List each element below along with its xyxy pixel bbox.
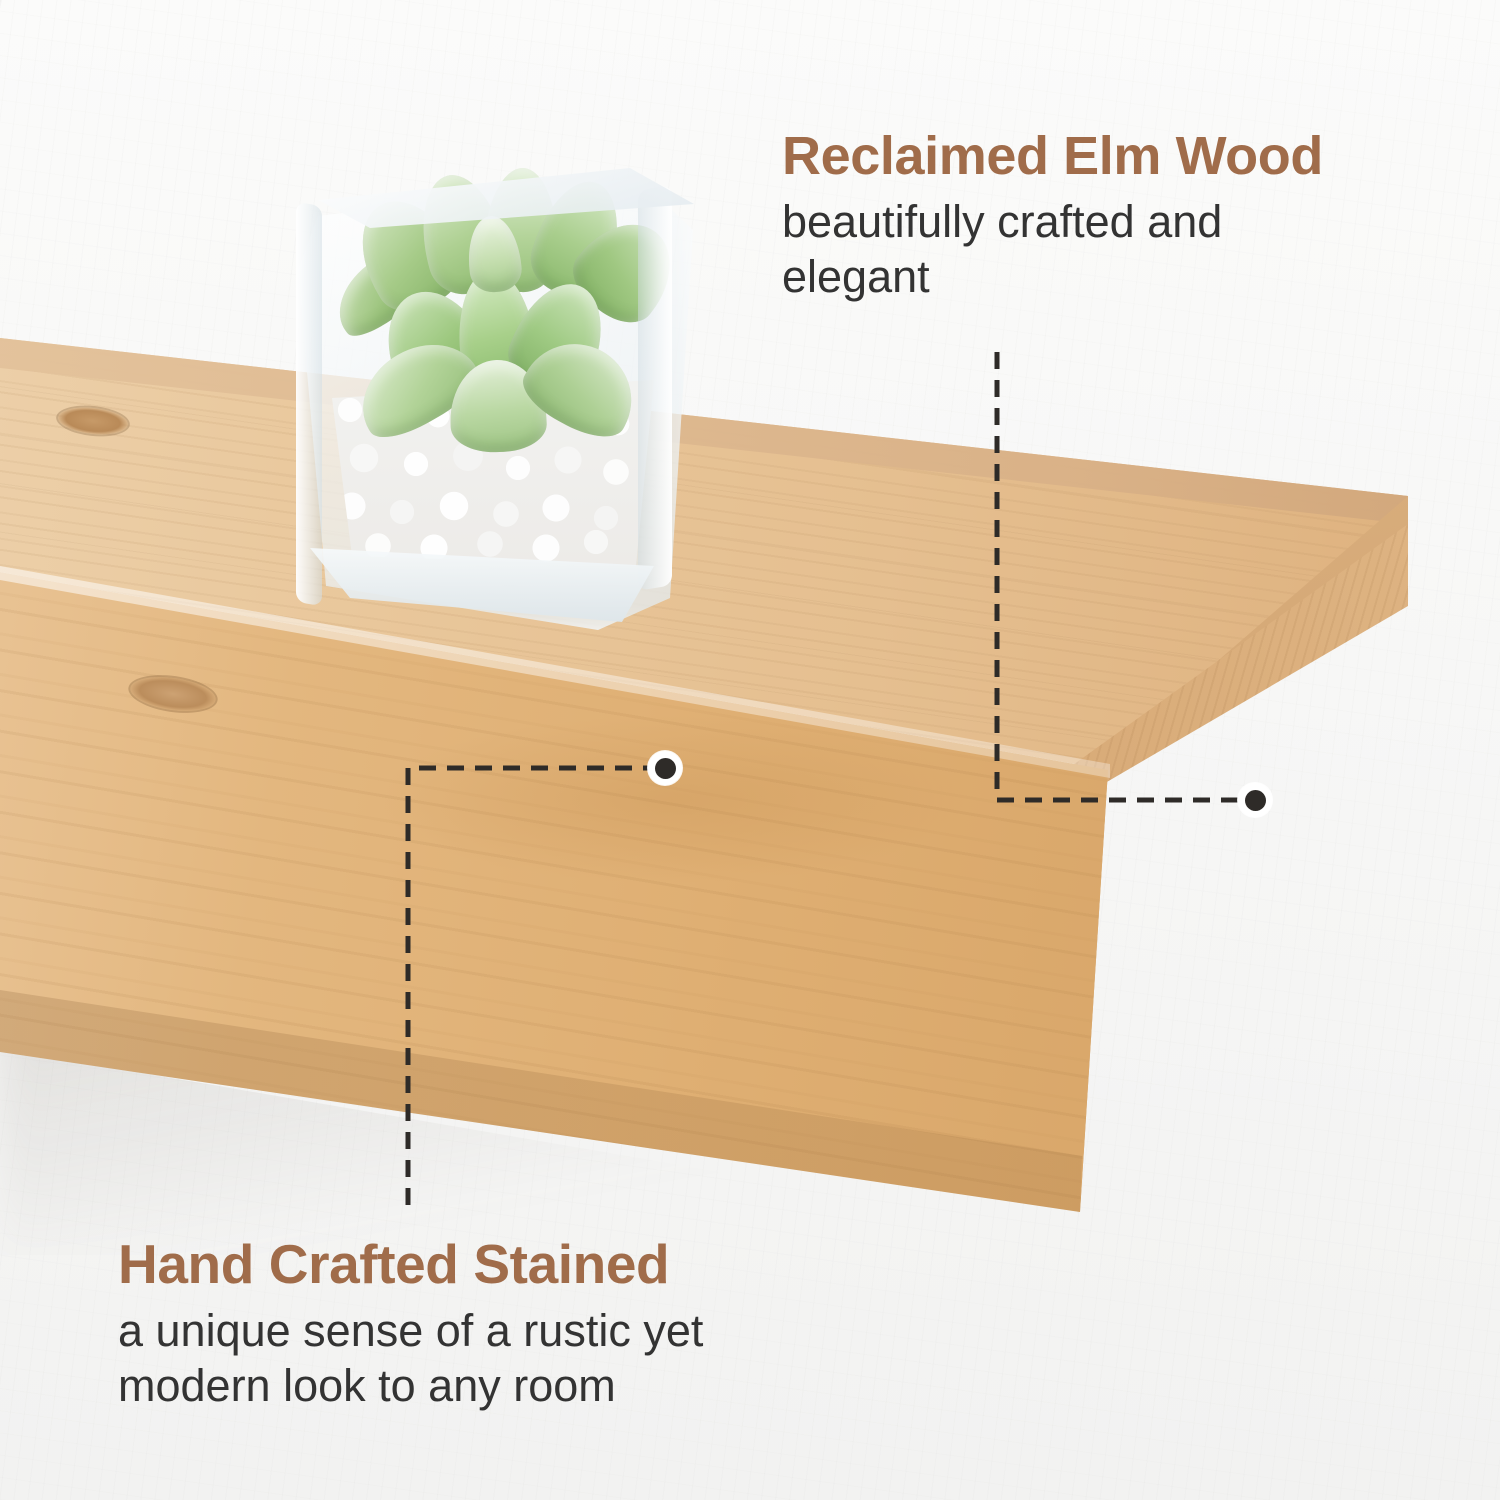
callout-text-top: Reclaimed Elm Wood beautifully crafted a…: [782, 128, 1323, 304]
callout-dot-shelf-edge[interactable]: [1238, 783, 1272, 817]
callout-dot-shelf-surface[interactable]: [648, 751, 682, 785]
top-subheading-line2: elegant: [782, 250, 1323, 305]
callout-text-bottom: Hand Crafted Stained a unique sense of a…: [118, 1236, 703, 1414]
bottom-subheading-line2: modern look to any room: [118, 1359, 703, 1414]
top-heading: Reclaimed Elm Wood: [782, 128, 1323, 185]
callout-dot-core: [1245, 790, 1266, 811]
callout-dot-core: [655, 758, 676, 779]
bottom-subheading-line1: a unique sense of a rustic yet: [118, 1304, 703, 1359]
top-subheading-line1: beautifully crafted and: [782, 195, 1323, 250]
bottom-heading: Hand Crafted Stained: [118, 1236, 703, 1294]
callout-top-line: [997, 352, 1240, 800]
callout-bottom-line: [408, 768, 660, 1212]
